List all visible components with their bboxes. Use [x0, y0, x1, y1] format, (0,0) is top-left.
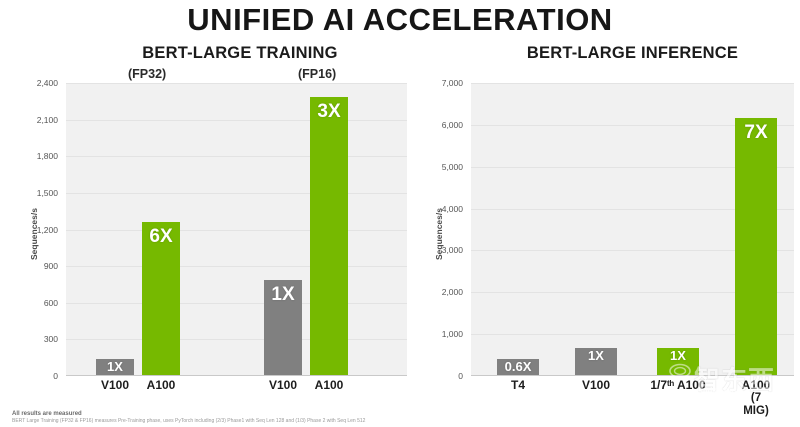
footnote: All results are measured BERT Large Trai…: [12, 410, 572, 425]
group-label-fp16: (FP16): [298, 67, 336, 81]
y-tick-label: 2,000: [442, 287, 463, 297]
bar-value-label: 1X: [107, 359, 123, 374]
gridline: [66, 230, 407, 231]
bar: 1X: [657, 348, 699, 375]
bar: 6X: [142, 222, 180, 375]
chart-panel-training: BERT-LARGE TRAINING (FP32) (FP16) Sequen…: [10, 44, 415, 385]
group-label-row-inference: [415, 67, 800, 83]
y-tick-label: 1,800: [37, 151, 58, 161]
bar-value-label: 0.6X: [505, 359, 532, 374]
y-tick-label: 6,000: [442, 120, 463, 130]
plot-canvas-inference: 0.6X1X1X7X: [471, 83, 794, 376]
gridline: [66, 83, 407, 84]
bar: 0.6X: [497, 359, 539, 375]
y-tick-label: 2,400: [37, 78, 58, 88]
footnote-line-1: All results are measured: [12, 410, 572, 418]
bar-value-label: 1X: [670, 348, 686, 363]
group-label-fp32: (FP32): [128, 67, 166, 81]
bar-value-label: 1X: [271, 284, 294, 306]
gridline: [471, 83, 794, 84]
bar: 3X: [310, 97, 348, 375]
bar: 7X: [735, 118, 777, 375]
plot-canvas-training: 1X6X1X3X: [66, 83, 407, 376]
bar: 1X: [575, 348, 617, 375]
group-label-row-training: (FP32) (FP16): [10, 67, 415, 83]
plot-area-training: Sequences/s 03006009001,2001,5001,8002,1…: [10, 83, 415, 385]
y-tick-label: 5,000: [442, 162, 463, 172]
y-tick-label: 600: [44, 298, 58, 308]
y-tick-label: 0: [458, 371, 463, 381]
bar: 1X: [96, 359, 134, 375]
bar: 1X: [264, 280, 302, 375]
x-axis-category-label: 1/7ᵗʰ A100: [650, 379, 705, 392]
y-tick-label: 2,100: [37, 115, 58, 125]
gridline: [66, 339, 407, 340]
chart-panel-inference: BERT-LARGE INFERENCE Sequences/s 01,0002…: [415, 44, 800, 385]
slide-canvas: UNIFIED AI ACCELERATION BERT-LARGE TRAIN…: [0, 0, 800, 427]
gridline: [66, 120, 407, 121]
y-tick-label: 4,000: [442, 204, 463, 214]
y-tick-label: 300: [44, 334, 58, 344]
chart-title-inference: BERT-LARGE INFERENCE: [465, 44, 800, 63]
chart-title-training: BERT-LARGE TRAINING: [65, 44, 415, 63]
y-axis-ticks-inference: 01,0002,0003,0004,0005,0006,0007,000: [415, 83, 467, 385]
x-axis-category-label: V100: [269, 379, 297, 392]
y-tick-label: 1,500: [37, 188, 58, 198]
y-axis-ticks-training: 03006009001,2001,5001,8002,1002,400: [10, 83, 62, 385]
x-axis-category-label: A100(7 MIG): [737, 379, 775, 418]
x-axis-category-label: V100: [582, 379, 610, 392]
y-tick-label: 1,200: [37, 225, 58, 235]
bar-value-label: 1X: [588, 348, 604, 363]
x-axis-category-label: A100: [147, 379, 176, 392]
gridline: [66, 266, 407, 267]
gridline: [66, 156, 407, 157]
gridline: [66, 193, 407, 194]
footnote-line-2: BERT Large Training (FP32 & FP16) measur…: [12, 418, 572, 425]
y-tick-label: 0: [53, 371, 58, 381]
bar-value-label: 6X: [149, 226, 172, 248]
bar-value-label: 7X: [744, 122, 767, 144]
page-title: UNIFIED AI ACCELERATION: [0, 2, 800, 38]
gridline: [66, 303, 407, 304]
y-tick-label: 1,000: [442, 329, 463, 339]
y-tick-label: 3,000: [442, 245, 463, 255]
x-axis-category-label: T4: [511, 379, 525, 392]
bar-value-label: 3X: [317, 101, 340, 123]
x-axis-category-label: A100: [315, 379, 344, 392]
y-tick-label: 900: [44, 261, 58, 271]
y-tick-label: 7,000: [442, 78, 463, 88]
plot-area-inference: Sequences/s 01,0002,0003,0004,0005,0006,…: [415, 83, 800, 385]
x-axis-category-sublabel: (7 MIG): [737, 392, 775, 418]
x-axis-category-label: V100: [101, 379, 129, 392]
